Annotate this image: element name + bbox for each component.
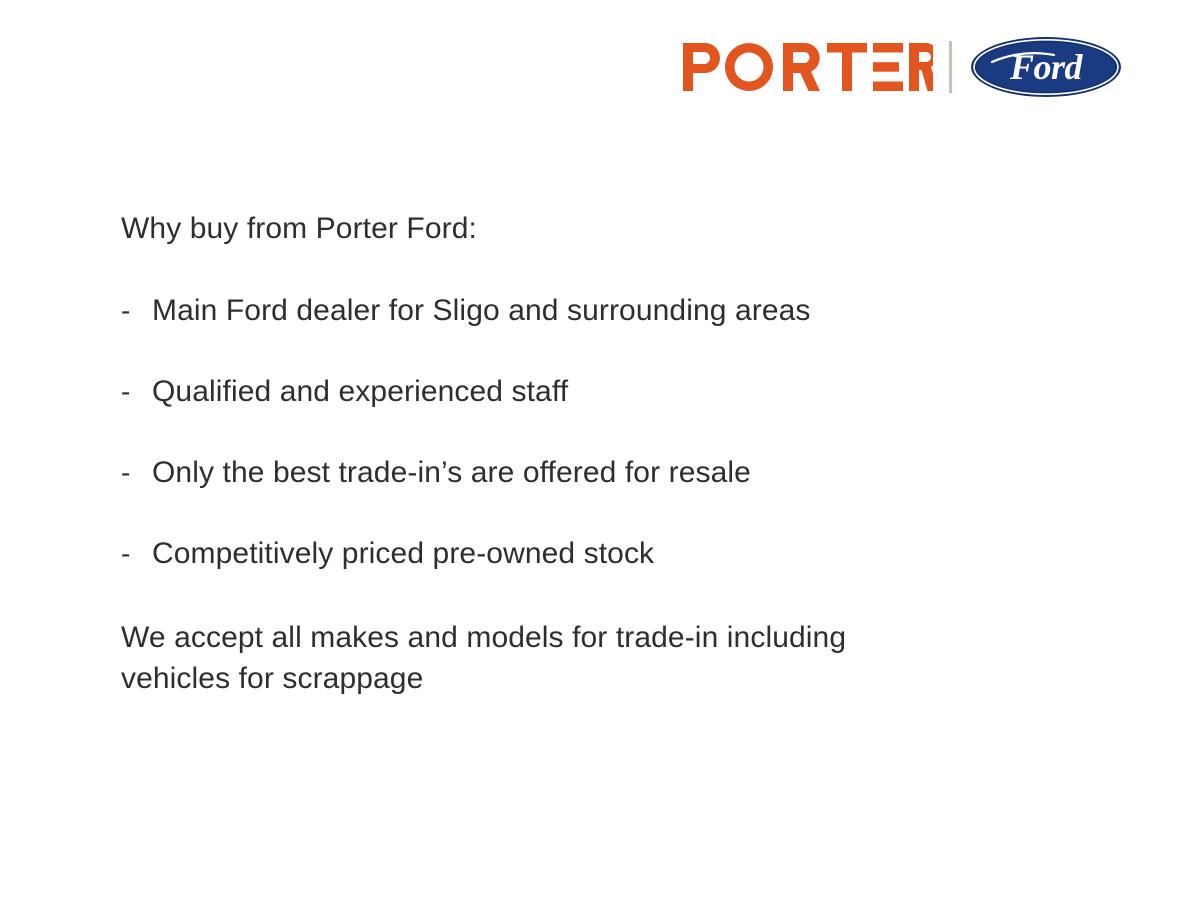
ford-oval-icon: Ford: [970, 36, 1122, 98]
brand-lockup: Ford: [683, 32, 1122, 102]
bullet-marker: -: [121, 537, 152, 571]
benefits-list: - Main Ford dealer for Sligo and surroun…: [121, 293, 1021, 572]
porter-wordmark-icon: [683, 43, 933, 91]
bullet-marker: -: [121, 375, 152, 409]
bullet-marker: -: [121, 456, 152, 490]
porter-wordmark: [683, 43, 933, 91]
list-item-label: Competitively priced pre-owned stock: [152, 536, 654, 572]
logo-divider: [949, 41, 952, 93]
list-item: - Qualified and experienced staff: [121, 374, 1021, 410]
closing-paragraph: We accept all makes and models for trade…: [121, 617, 961, 700]
list-item: - Main Ford dealer for Sligo and surroun…: [121, 293, 1021, 329]
slide-canvas: Ford Why buy from Porter Ford: - Main Fo…: [0, 0, 1200, 900]
list-item: - Only the best trade-in’s are offered f…: [121, 455, 1021, 491]
list-item-label: Only the best trade-in’s are offered for…: [152, 455, 751, 491]
bullet-marker: -: [121, 294, 152, 328]
list-item: - Competitively priced pre-owned stock: [121, 536, 1021, 572]
slide-content: Why buy from Porter Ford: - Main Ford de…: [121, 211, 1021, 700]
list-item-label: Qualified and experienced staff: [152, 374, 568, 410]
page-title: Why buy from Porter Ford:: [121, 211, 1021, 247]
list-item-label: Main Ford dealer for Sligo and surroundi…: [152, 293, 811, 329]
